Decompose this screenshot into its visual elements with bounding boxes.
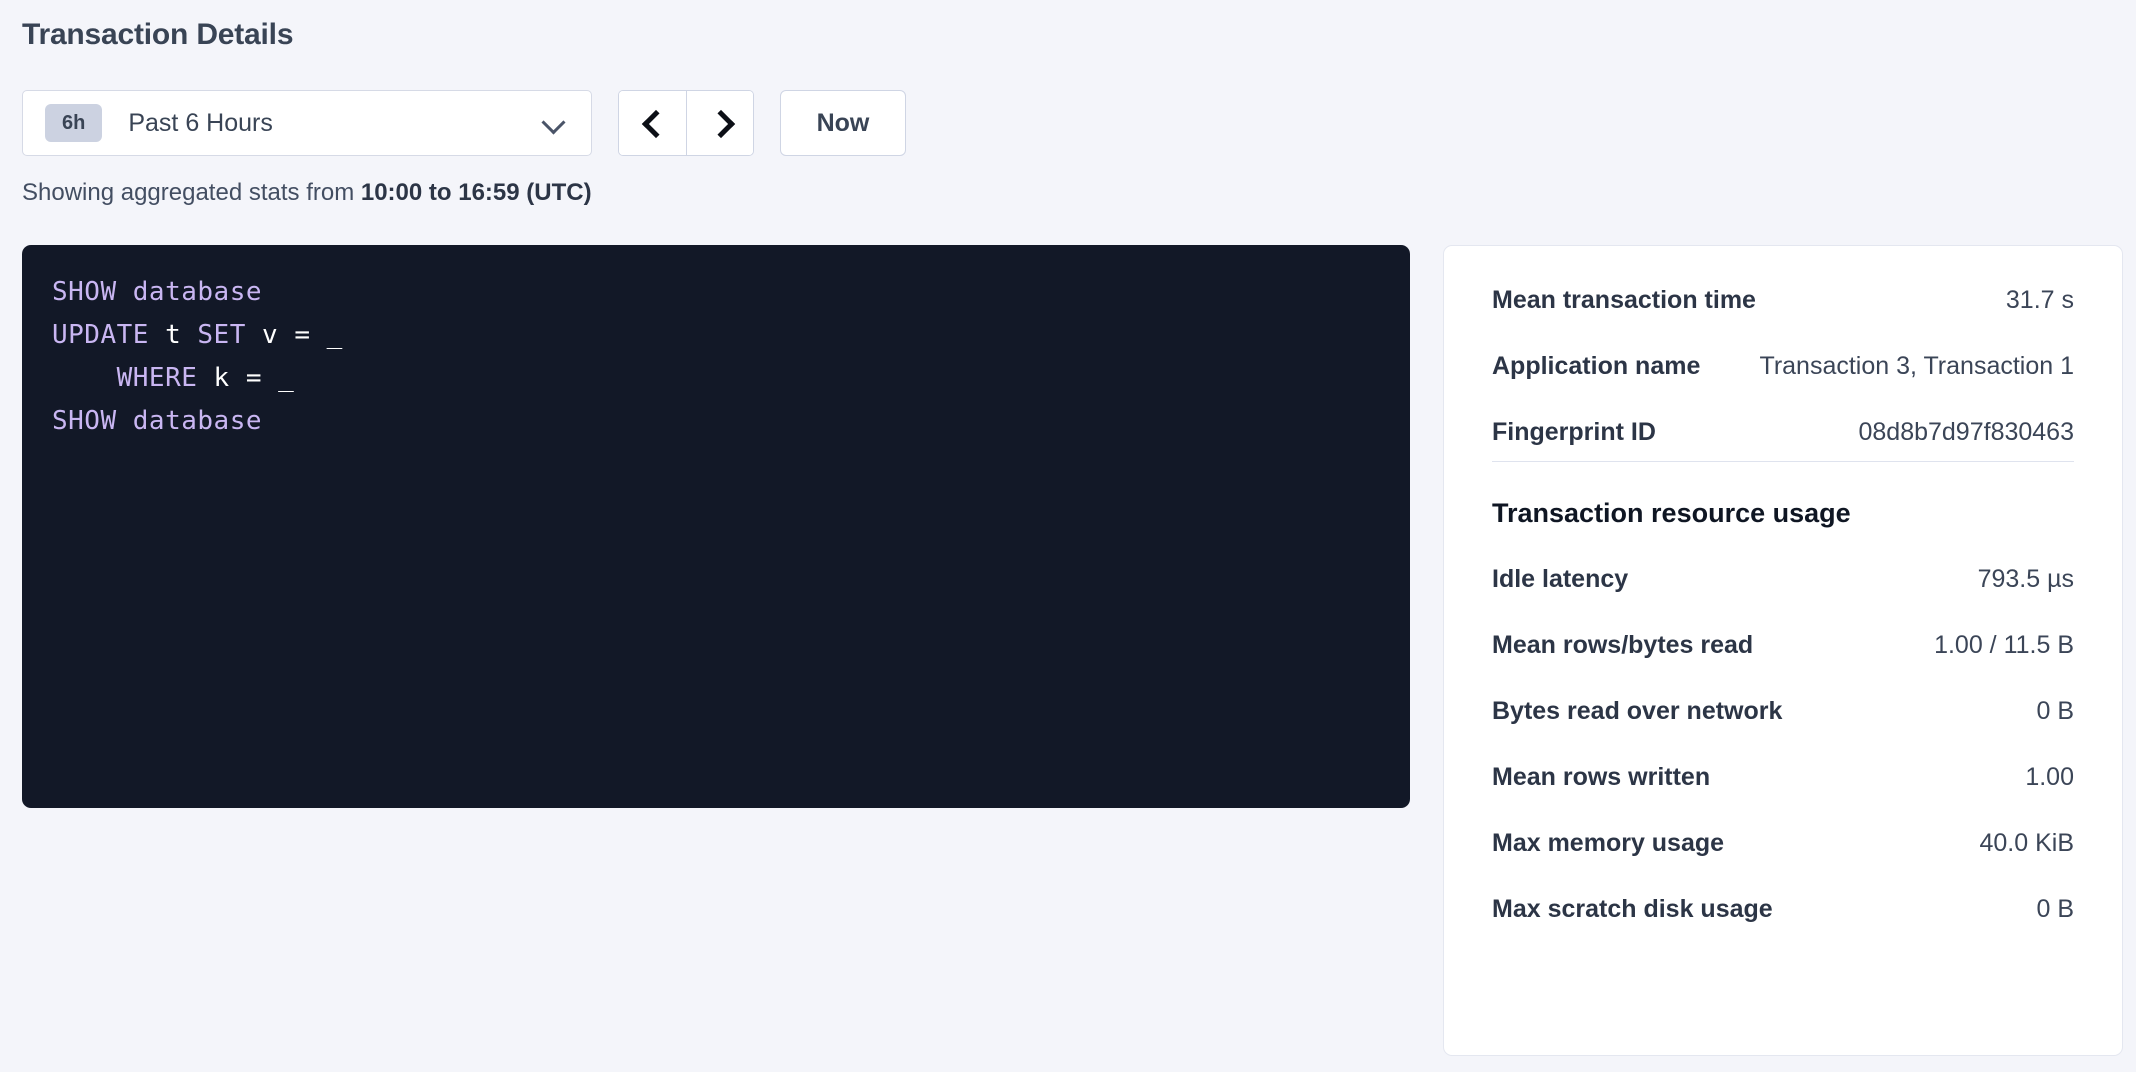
resource-usage-list: Idle latency793.5 µsMean rows/bytes read…	[1492, 565, 2074, 924]
detail-key: Mean rows/bytes read	[1492, 631, 1753, 660]
code-line: SHOW database	[52, 271, 1380, 314]
detail-value: 08d8b7d97f830463	[1858, 418, 2074, 447]
detail-value: 793.5 µs	[1978, 565, 2074, 594]
next-period-button[interactable]	[686, 91, 753, 155]
summary-list: Mean transaction time31.7 sApplication n…	[1492, 286, 2074, 447]
detail-key: Bytes read over network	[1492, 697, 1782, 726]
sql-keyword: SHOW	[52, 277, 117, 307]
detail-value: 0 B	[2036, 697, 2074, 726]
sql-keyword: SET	[197, 320, 245, 350]
time-range-label: Past 6 Hours	[128, 109, 543, 138]
summary-row: Fingerprint ID08d8b7d97f830463	[1492, 418, 2074, 447]
detail-value: 31.7 s	[2006, 286, 2074, 315]
usage-row: Mean rows/bytes read1.00 / 11.5 B	[1492, 631, 2074, 660]
transaction-details-page: Transaction Details 6h Past 6 Hours Now …	[0, 0, 2136, 1072]
transaction-details-card: Mean transaction time31.7 sApplication n…	[1443, 245, 2123, 1056]
previous-period-button[interactable]	[619, 91, 686, 155]
aggregated-stats-caption: Showing aggregated stats from 10:00 to 1…	[22, 179, 592, 207]
detail-key: Max scratch disk usage	[1492, 895, 1773, 924]
stats-caption-prefix: Showing aggregated stats from	[22, 179, 361, 206]
usage-row: Bytes read over network0 B	[1492, 697, 2074, 726]
usage-row: Mean rows written1.00	[1492, 763, 2074, 792]
sql-keyword: database	[133, 277, 262, 307]
time-nav-group	[618, 90, 754, 156]
time-range-badge: 6h	[45, 104, 102, 142]
summary-row: Application nameTransaction 3, Transacti…	[1492, 352, 2074, 381]
sql-token	[117, 277, 133, 307]
sql-keyword: UPDATE	[52, 320, 149, 350]
code-line: SHOW database	[52, 400, 1380, 443]
sql-keyword: database	[133, 406, 262, 436]
detail-key: Idle latency	[1492, 565, 1628, 594]
chevron-left-icon	[643, 113, 663, 133]
sql-token	[117, 406, 133, 436]
usage-row: Max memory usage40.0 KiB	[1492, 829, 2074, 858]
stats-caption-range: 10:00 to 16:59 (UTC)	[361, 179, 592, 206]
detail-value: 1.00 / 11.5 B	[1934, 631, 2074, 660]
chevron-right-icon	[710, 113, 730, 133]
code-line: UPDATE t SET v = _	[52, 314, 1380, 357]
detail-value: 40.0 KiB	[1979, 829, 2074, 858]
sql-token: t	[149, 320, 197, 350]
transaction-statement-code-panel: SHOW databaseUPDATE t SET v = _ WHERE k …	[22, 245, 1410, 808]
page-title: Transaction Details	[22, 18, 293, 52]
sql-keyword: WHERE	[117, 363, 198, 393]
summary-row: Mean transaction time31.7 s	[1492, 286, 2074, 315]
detail-key: Mean transaction time	[1492, 286, 1756, 315]
sql-token	[52, 363, 117, 393]
code-line: WHERE k = _	[52, 357, 1380, 400]
time-range-toolbar: 6h Past 6 Hours Now	[22, 90, 906, 156]
chevron-down-icon	[543, 112, 565, 134]
detail-key: Max memory usage	[1492, 829, 1724, 858]
usage-row: Idle latency793.5 µs	[1492, 565, 2074, 594]
now-button[interactable]: Now	[780, 90, 906, 156]
card-divider	[1492, 461, 2074, 462]
sql-token: v = _	[246, 320, 343, 350]
detail-value: 1.00	[2025, 763, 2074, 792]
resource-usage-heading: Transaction resource usage	[1492, 498, 2074, 529]
detail-value: Transaction 3, Transaction 1	[1759, 352, 2074, 381]
detail-key: Mean rows written	[1492, 763, 1710, 792]
sql-statement-text: SHOW databaseUPDATE t SET v = _ WHERE k …	[52, 271, 1380, 443]
detail-value: 0 B	[2036, 895, 2074, 924]
time-range-select[interactable]: 6h Past 6 Hours	[22, 90, 592, 156]
detail-key: Fingerprint ID	[1492, 418, 1656, 447]
sql-token: k = _	[197, 363, 294, 393]
usage-row: Max scratch disk usage0 B	[1492, 895, 2074, 924]
detail-key: Application name	[1492, 352, 1700, 381]
sql-keyword: SHOW	[52, 406, 117, 436]
